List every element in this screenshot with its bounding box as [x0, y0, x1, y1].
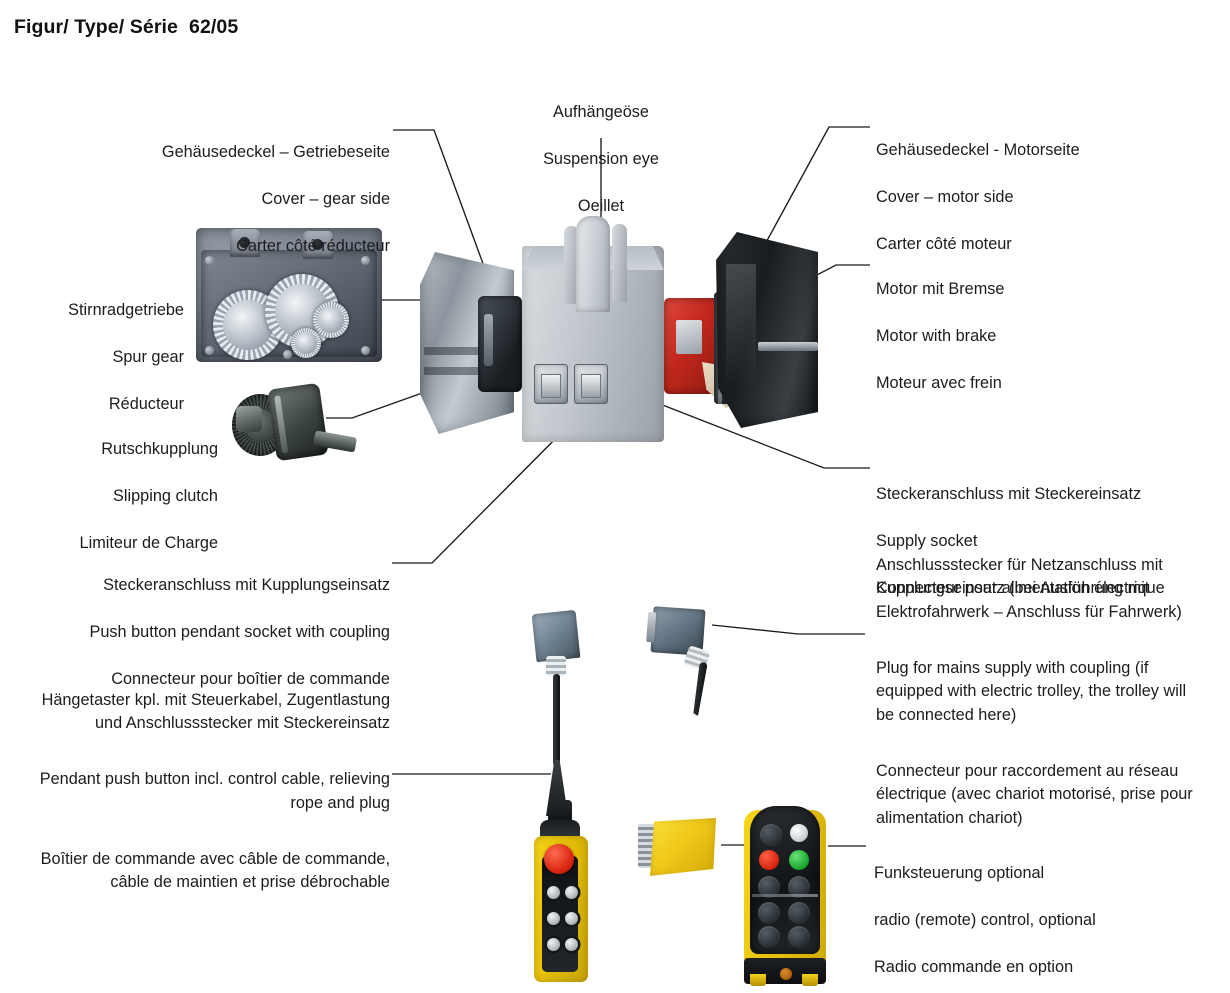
callout-spur-gear-en: Spur gear — [112, 348, 184, 366]
callout-suspension-eye-en: Suspension eye — [543, 150, 659, 168]
callout-pendant-socket-de: Steckeranschluss mit Kupplungseinsatz — [103, 576, 390, 594]
callout-mains-plug-en: Plug for mains supply with coupling (if … — [876, 657, 1194, 728]
callout-cover-motor-side-de: Gehäusedeckel - Motorseite — [876, 141, 1080, 159]
bolt — [283, 350, 292, 359]
callout-cover-gear-side-fr: Carter côté réducteur — [236, 237, 390, 255]
photo-mains-plug — [652, 608, 728, 720]
bolt — [361, 346, 370, 355]
leader-mains-plug — [712, 625, 865, 634]
callout-motor-with-brake-en: Motor with brake — [876, 327, 996, 345]
emergency-stop-button — [544, 844, 574, 874]
callout-slipping-clutch-de: Rutschkupplung — [101, 440, 218, 458]
callout-radio-control: Funksteuerung optional radio (remote) co… — [874, 815, 1204, 993]
remote-base — [744, 958, 826, 984]
pendant-socket — [534, 364, 568, 404]
remote-button — [788, 926, 810, 948]
callout-suspension-eye: Aufhängeöse Suspension eye Oeillet — [491, 54, 711, 242]
photo-hoist-assembly — [418, 212, 820, 450]
gear-small-right — [313, 302, 349, 338]
clutch-rib — [274, 395, 288, 453]
remote-button — [760, 824, 782, 846]
internal-clutch — [478, 296, 522, 392]
callout-radio-control-fr: Radio commande en option — [874, 958, 1073, 976]
remote-foot — [802, 974, 818, 986]
callout-slipping-clutch-en: Slipping clutch — [113, 487, 218, 505]
callout-cover-gear-side-de: Gehäusedeckel – Getriebeseite — [162, 143, 390, 161]
control-cable — [553, 674, 560, 766]
pendant-button — [547, 912, 560, 925]
remote-button — [788, 902, 810, 924]
callout-cover-gear-side-en: Cover – gear side — [261, 190, 390, 208]
callout-mains-plug-de: Anschlussstecker für Netzanschluss mit K… — [876, 554, 1194, 625]
photo-radio-remote — [742, 806, 828, 988]
callout-pendant-socket-en: Push button pendant socket with coupling — [89, 623, 390, 641]
remote-button — [758, 902, 780, 924]
cover-plate-lid — [650, 818, 716, 876]
pendant-button — [547, 938, 560, 951]
callout-supply-socket-de: Steckeranschluss mit Steckereinsatz — [876, 485, 1141, 503]
motor-side-cover — [714, 228, 818, 428]
callout-pendant-complete-fr: Boîtier de commande avec câble de comman… — [34, 848, 390, 895]
callout-mains-plug: Anschlussstecker für Netzanschluss mit K… — [876, 530, 1194, 854]
cable-collar — [546, 656, 566, 676]
supply-socket — [574, 364, 608, 404]
callout-suspension-eye-de: Aufhängeöse — [553, 103, 649, 121]
pendant-button — [565, 886, 578, 899]
pendant-button — [547, 886, 560, 899]
callout-radio-control-de: Funksteuerung optional — [874, 864, 1044, 882]
pendant-plug — [532, 610, 581, 662]
clutch-highlight — [484, 314, 493, 366]
remote-label-strip — [752, 894, 818, 897]
brake-window — [676, 320, 702, 354]
remote-stop-button — [759, 850, 779, 870]
callout-pendant-complete-en: Pendant push button incl. control cable,… — [34, 768, 390, 815]
callout-pendant-complete: Hängetaster kpl. mit Steuerkabel, Zugent… — [34, 665, 390, 918]
clutch-nut — [236, 406, 262, 432]
mains-cable — [692, 662, 707, 717]
callout-cover-motor-side-en: Cover – motor side — [876, 188, 1014, 206]
remote-foot — [750, 974, 766, 986]
callout-pendant-complete-de: Hängetaster kpl. mit Steuerkabel, Zugent… — [34, 689, 390, 736]
pendant-button — [565, 912, 578, 925]
callout-motor-with-brake-fr: Moteur avec frein — [876, 374, 1002, 392]
photo-pendant-plug-cable — [528, 612, 588, 812]
plug-pin — [646, 612, 656, 642]
callout-suspension-eye-fr: Oeillet — [578, 197, 624, 215]
bolt — [205, 346, 214, 355]
pendant-button — [565, 938, 578, 951]
motor-shaft — [758, 342, 818, 351]
remote-button — [758, 926, 780, 948]
callout-motor-with-brake: Motor mit Bremse Motor with brake Moteur… — [876, 231, 1206, 419]
callout-radio-control-en: radio (remote) control, optional — [874, 911, 1096, 929]
cover-sheen — [726, 264, 755, 388]
page-title: Figur/ Type/ Série 62/05 — [14, 16, 238, 39]
clutch-hub — [267, 383, 329, 462]
remote-button — [790, 824, 808, 842]
photo-pendant-push-button — [528, 800, 600, 988]
photo-yellow-cover-plate — [638, 818, 722, 880]
callout-spur-gear-de: Stirnradgetriebe — [68, 301, 184, 319]
gear-small-bottom — [291, 328, 321, 358]
remote-start-button — [789, 850, 809, 870]
callout-motor-with-brake-de: Motor mit Bremse — [876, 280, 1004, 298]
remote-antenna-mount — [780, 968, 792, 980]
diagram-page: Figur/ Type/ Série 62/05 — [0, 0, 1230, 993]
photo-slipping-clutch — [230, 378, 356, 478]
